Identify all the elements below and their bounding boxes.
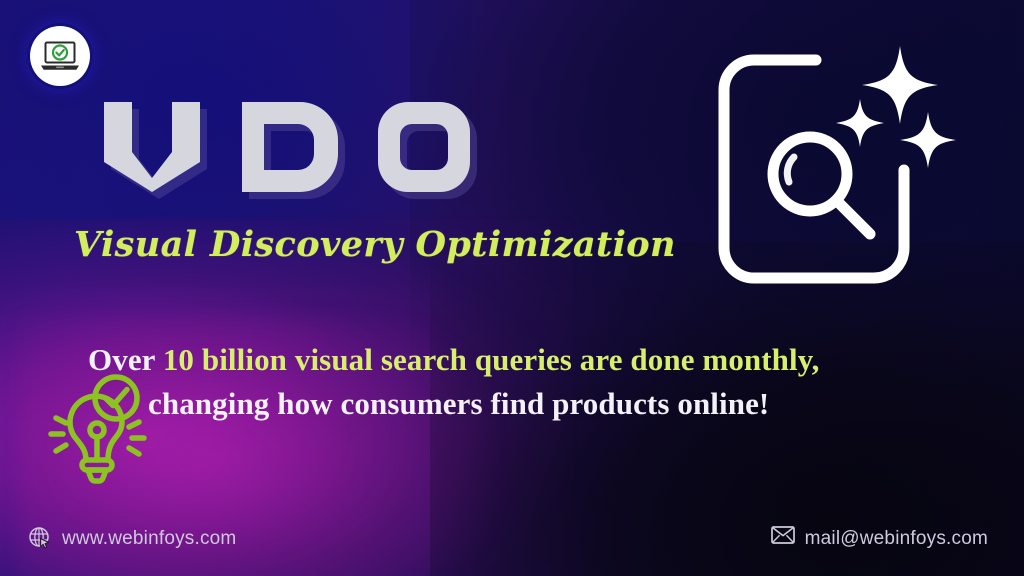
headline-line-1-green: 10 billion visual search queries are don… [163,342,820,377]
headline: Over 10 billion visual search queries ar… [80,338,960,426]
promo-banner: Visual Discovery Optimization [0,0,1024,576]
footer-website-text: www.webinfoys.com [62,529,236,548]
visual-search-sparkle-icon [704,40,972,310]
wordmark-letter-o [374,98,474,196]
laptop-verified-icon [30,26,90,86]
footer-website[interactable]: www.webinfoys.com [28,526,236,550]
headline-line-1: Over 10 billion visual search queries ar… [80,338,960,382]
globe-cursor-icon [28,526,52,550]
wordmark-letter-v [98,98,206,196]
headline-line-1-white: Over [88,342,163,377]
envelope-icon [771,526,795,550]
footer-email-text: mail@webinfoys.com [805,529,988,548]
headline-line-2: changing how consumers find products onl… [80,382,960,426]
vdo-wordmark [98,98,474,196]
wordmark-letter-d [238,98,342,196]
sparkle-medium [900,112,956,168]
sparkle-large [862,46,938,124]
sparkle-small [836,99,884,147]
brand-tagline: Visual Discovery Optimization [74,224,676,265]
footer-email[interactable]: mail@webinfoys.com [771,526,988,550]
